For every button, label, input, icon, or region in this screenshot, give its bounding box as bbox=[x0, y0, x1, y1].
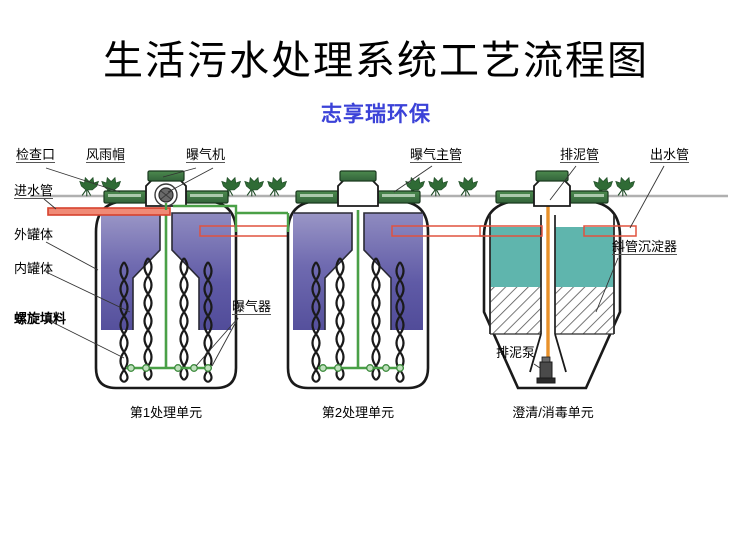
label-effluent-pipe: 出水管 bbox=[650, 148, 689, 163]
label-diffuser: 曝气器 bbox=[232, 300, 271, 315]
unit3-settler-left bbox=[490, 287, 541, 334]
caption-unit-1: 第1处理单元 bbox=[110, 402, 222, 421]
label-inspection-port: 检查口 bbox=[16, 148, 55, 163]
label-inlet-pipe: 进水管 bbox=[14, 184, 53, 199]
inlet-pipe-shape bbox=[48, 208, 170, 215]
diagram-page: 生活污水处理系统工艺流程图 志享瑞环保 bbox=[0, 0, 752, 557]
label-sludge-pump: 排泥泵 bbox=[496, 346, 535, 359]
label-aerator-blower: 曝气机 bbox=[186, 148, 225, 163]
label-outer-tank-body: 外罐体 bbox=[14, 228, 53, 241]
unit3-settler-right bbox=[555, 287, 614, 334]
treatment-unit-2 bbox=[288, 171, 496, 388]
unit3-riser bbox=[534, 171, 570, 206]
label-weather-cap: 风雨帽 bbox=[86, 148, 125, 163]
process-flow-diagram bbox=[0, 0, 752, 557]
unit3-weather-cap bbox=[536, 171, 568, 181]
caption-unit-2: 第2处理单元 bbox=[302, 402, 414, 421]
label-inner-tank-body: 内罐体 bbox=[14, 262, 53, 275]
label-sludge-discharge-pipe: 排泥管 bbox=[560, 148, 599, 163]
label-inclined-tube-settler: 斜管沉淀器 bbox=[612, 240, 677, 255]
treatment-unit-1 bbox=[48, 171, 304, 388]
label-spiral-filler: 螺旋填料 bbox=[14, 312, 66, 325]
unit2-weather-cap bbox=[340, 171, 376, 181]
label-aeration-main-pipe: 曝气主管 bbox=[410, 148, 462, 163]
unit2-inspection-riser bbox=[338, 171, 378, 206]
caption-unit-3: 澄清/消毒单元 bbox=[492, 402, 614, 421]
